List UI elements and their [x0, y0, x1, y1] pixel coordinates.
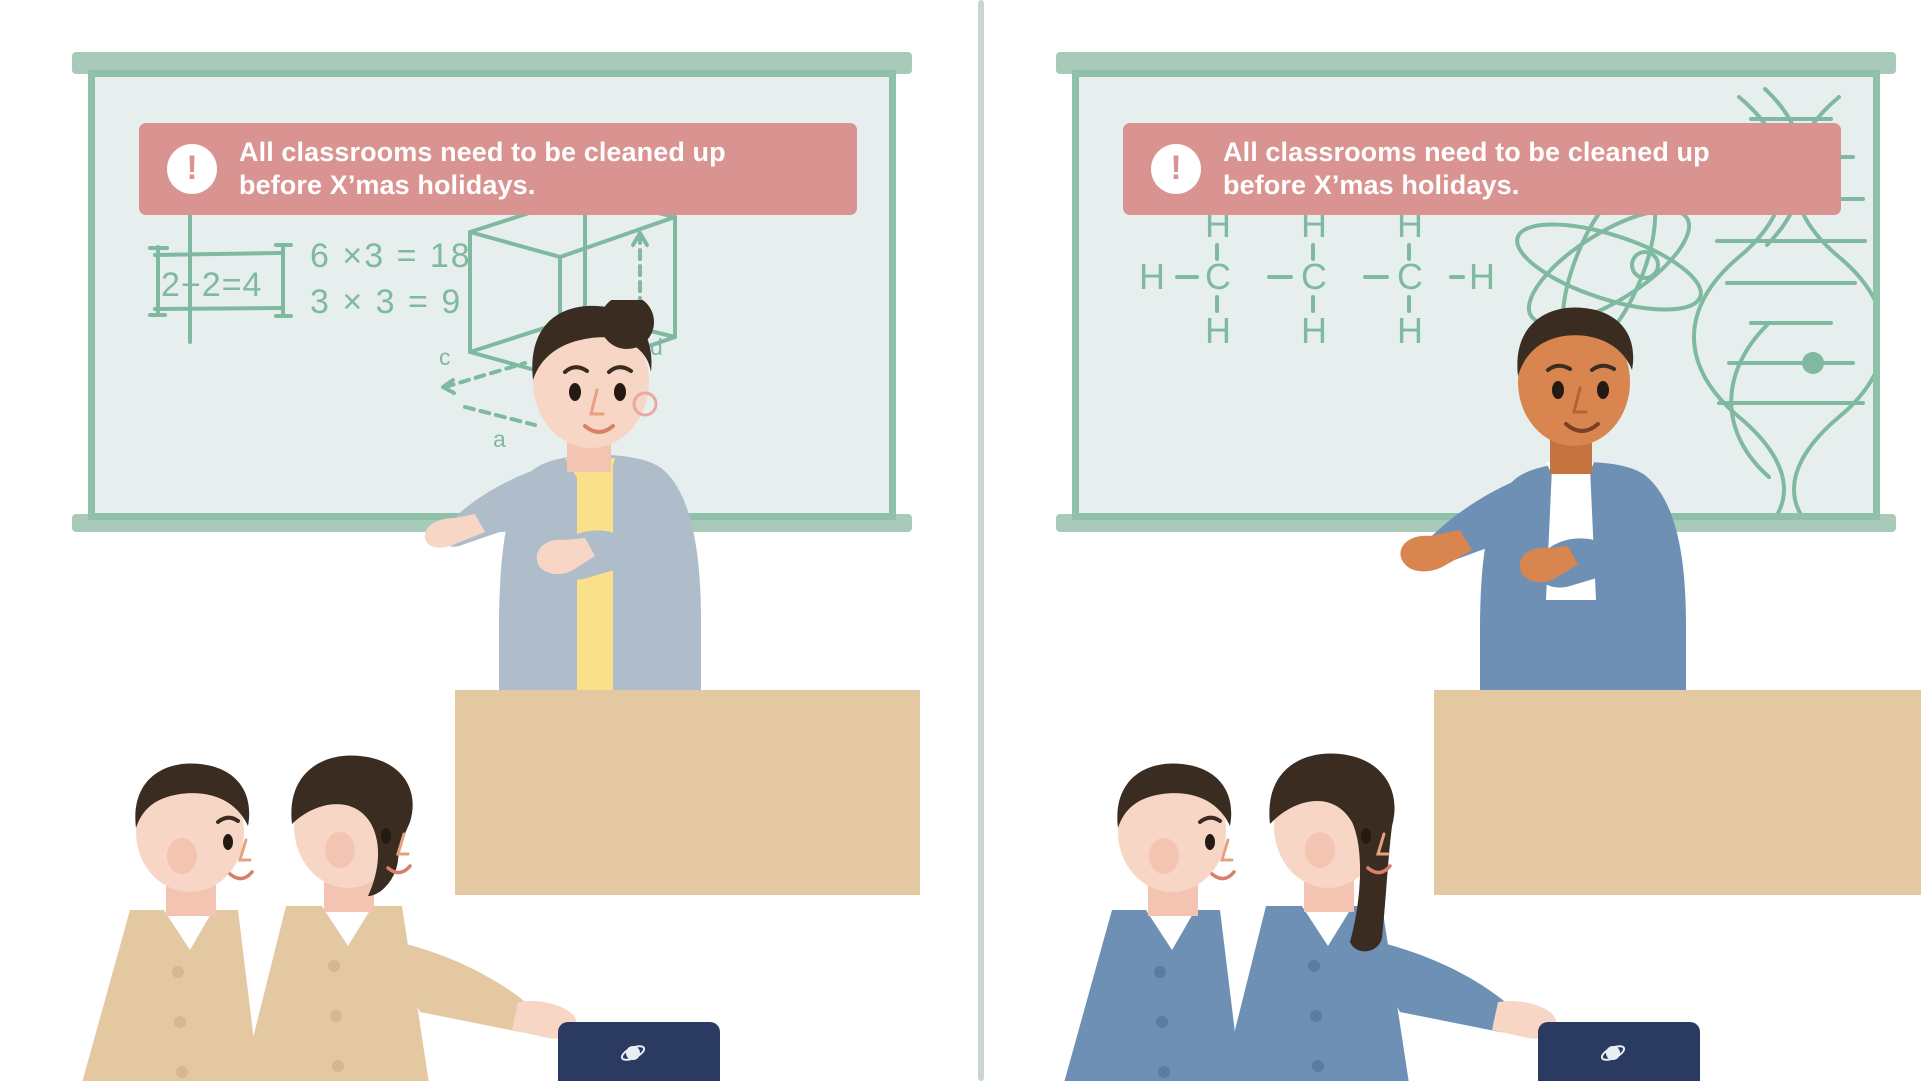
laptop[interactable] [558, 1022, 720, 1081]
svg-text:H: H [1205, 310, 1231, 351]
alert-exclamation-icon: ! [167, 144, 217, 194]
alert-message: All classrooms need to be cleaned up bef… [239, 136, 726, 203]
alert-exclamation-icon: ! [1151, 144, 1201, 194]
svg-text:H: H [1139, 256, 1165, 297]
svg-text:H: H [1469, 256, 1495, 297]
laptop[interactable] [1538, 1022, 1700, 1081]
svg-text:C: C [1301, 256, 1327, 297]
alert-message: All classrooms need to be cleaned up bef… [1223, 136, 1710, 203]
teacher-male [1394, 300, 1794, 720]
alert-icon-symbol: ! [186, 151, 197, 185]
planet-sticker-icon [1600, 1040, 1626, 1066]
panel-math-classroom: 2+2=4 6 ×3 = 18 3 × 3 = 9 c a d ! All cl… [0, 0, 960, 1081]
svg-text:C: C [1397, 256, 1423, 297]
alert-banner: ! All classrooms need to be cleaned up b… [139, 123, 857, 215]
svg-text:2+2=4: 2+2=4 [161, 266, 262, 304]
alert-banner: ! All classrooms need to be cleaned up b… [1123, 123, 1841, 215]
alert-icon-symbol: ! [1170, 151, 1181, 185]
svg-text:6 ×3 = 18: 6 ×3 = 18 [310, 237, 472, 275]
panel-science-classroom: H HCH HCH HCH H [984, 0, 1921, 1081]
teacher-female [415, 300, 795, 720]
svg-text:H: H [1301, 310, 1327, 351]
svg-text:C: C [1205, 256, 1231, 297]
illustration-canvas: 2+2=4 6 ×3 = 18 3 × 3 = 9 c a d ! All cl… [0, 0, 1921, 1081]
planet-sticker-icon [620, 1040, 646, 1066]
